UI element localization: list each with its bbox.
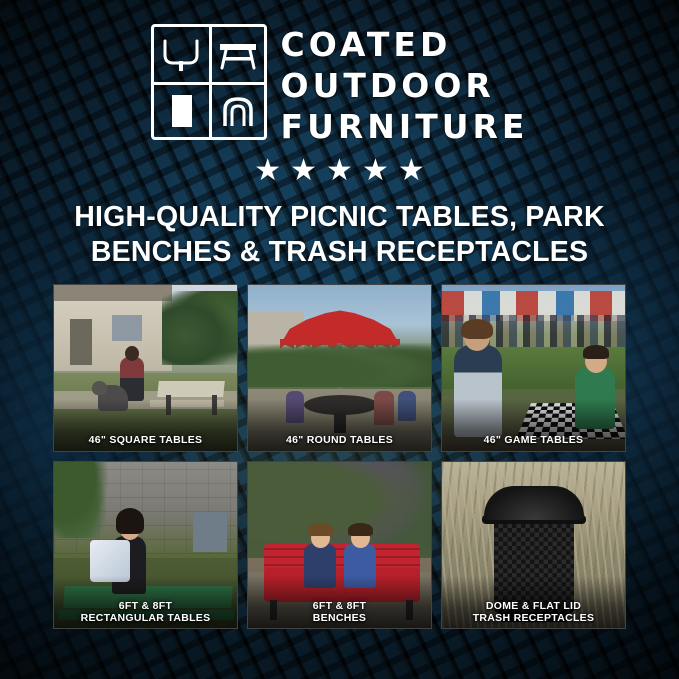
gallery-caption: 46" ROUND TABLES (248, 431, 431, 451)
gallery-caption: DOME & FLAT LID TRASH RECEPTACLES (442, 597, 625, 628)
star-icon: ★ (254, 156, 281, 186)
gallery-tile-game-tables: 46" GAME TABLES (441, 284, 626, 452)
star-icon: ★ (326, 156, 353, 186)
gallery-tile-benches: 6FT & 8FT BENCHES (247, 461, 432, 629)
caption-line-1: 46" GAME TABLES (444, 434, 623, 446)
gallery-caption: 46" SQUARE TABLES (54, 431, 237, 451)
gallery-caption: 6FT & 8FT BENCHES (248, 597, 431, 628)
headline-line-1: HIGH-QUALITY PICNIC TABLES, PARK (34, 200, 645, 235)
star-rating: ★ ★ ★ ★ ★ (0, 156, 679, 186)
brand-name-line-1: COATED (281, 26, 529, 65)
caption-line-1: 46" ROUND TABLES (250, 434, 429, 446)
gallery-row-1: 46" SQUARE TABLES (53, 284, 626, 452)
picnic-table-icon (209, 27, 264, 82)
arch-bench-icon (209, 82, 264, 137)
gallery-caption: 46" GAME TABLES (442, 431, 625, 451)
product-gallery: 46" SQUARE TABLES (53, 284, 626, 629)
gallery-row-2: 6FT & 8FT RECTANGULAR TABLES (53, 461, 626, 629)
headline: HIGH-QUALITY PICNIC TABLES, PARK BENCHES… (34, 200, 645, 270)
brand-name-line-2: OUTDOOR (281, 67, 529, 106)
caption-line-1: 6FT & 8FT (56, 600, 235, 612)
gallery-caption: 6FT & 8FT RECTANGULAR TABLES (54, 597, 237, 628)
star-icon: ★ (398, 156, 425, 186)
gallery-tile-trash-receptacles: DOME & FLAT LID TRASH RECEPTACLES (441, 461, 626, 629)
brand-wordmark: COATED OUTDOOR FURNITURE (281, 24, 529, 147)
caption-line-1: 46" SQUARE TABLES (56, 434, 235, 446)
caption-line-1: DOME & FLAT LID (444, 600, 623, 612)
headline-line-2: BENCHES & TRASH RECEPTACLES (34, 235, 645, 270)
bench-end-frame-icon (154, 27, 209, 82)
gallery-tile-round-tables: 46" ROUND TABLES (247, 284, 432, 452)
product-banner: COATED OUTDOOR FURNITURE ★ ★ ★ ★ ★ HIGH-… (0, 0, 679, 679)
gallery-tile-square-tables: 46" SQUARE TABLES (53, 284, 238, 452)
star-icon: ★ (362, 156, 389, 186)
caption-line-2: RECTANGULAR TABLES (56, 612, 235, 624)
brand-logo: COATED OUTDOOR FURNITURE (0, 24, 679, 147)
gallery-tile-rectangular-tables: 6FT & 8FT RECTANGULAR TABLES (53, 461, 238, 629)
caption-line-2: TRASH RECEPTACLES (444, 612, 623, 624)
trash-receptacle-icon (154, 82, 209, 137)
logo-icon-grid (151, 24, 267, 140)
caption-line-1: 6FT & 8FT (250, 600, 429, 612)
brand-name-line-3: FURNITURE (281, 108, 529, 147)
star-icon: ★ (290, 156, 317, 186)
caption-line-2: BENCHES (250, 612, 429, 624)
